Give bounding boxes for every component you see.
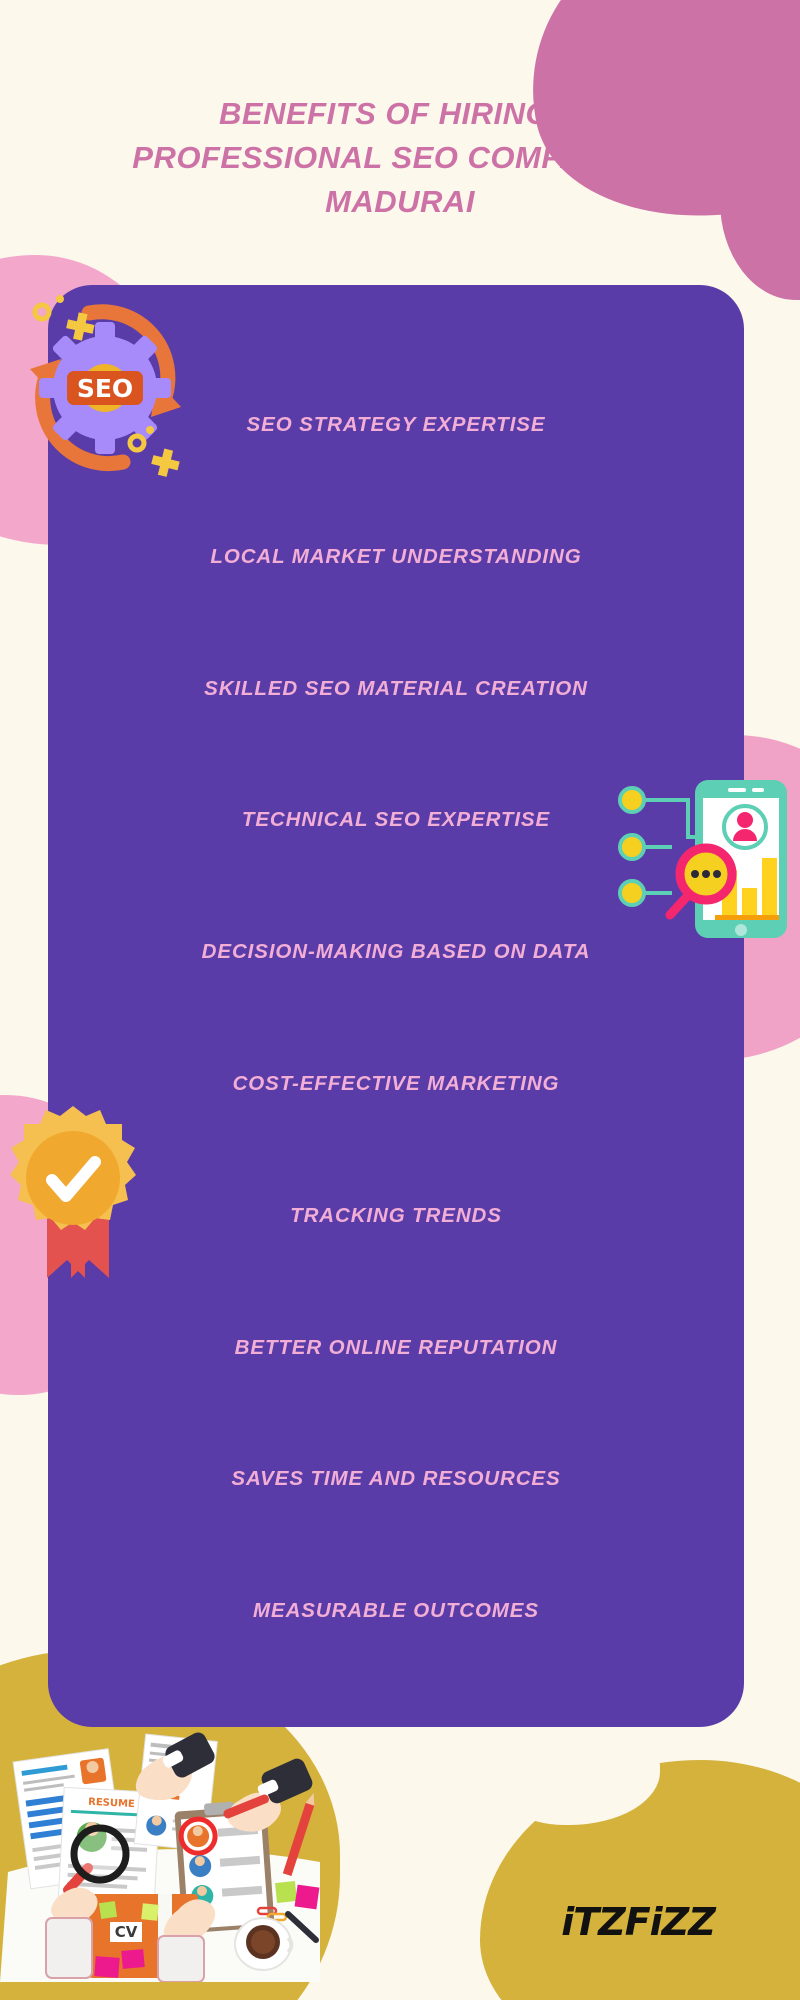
quality-badge-icon <box>5 1100 150 1280</box>
list-item: Tracking Trends <box>104 1150 688 1282</box>
seo-gear-icon: SEO <box>5 285 205 490</box>
list-item: Better Online Reputation <box>104 1282 688 1414</box>
decor-blob-top-right-secondary <box>720 120 800 300</box>
decor-blob-bottom-right-notch <box>490 1715 660 1825</box>
brand-logo-text: iTZFiZZ <box>561 1900 715 1944</box>
brand-logo: iTZFiZZ <box>538 1892 738 1952</box>
list-item: Local Market Understanding <box>104 491 688 623</box>
list-item: Measurable Outcomes <box>104 1545 688 1677</box>
list-item: Saves Time and Resources <box>104 1413 688 1545</box>
benefits-list: SEO Strategy Expertise Local Market Unde… <box>48 285 744 1727</box>
mobile-analytics-icon <box>610 775 790 940</box>
svg-text:SEO: SEO <box>77 374 133 403</box>
decor-blob-bottom-right-gold <box>480 1760 800 2000</box>
list-item: Skilled SEO Material Creation <box>104 623 688 755</box>
page-title: Benefits of Hiring a Professional SEO Co… <box>110 92 690 224</box>
list-item: Decision-Making Based on Data <box>104 886 688 1018</box>
infographic-poster: Benefits of Hiring a Professional SEO Co… <box>0 0 800 2000</box>
svg-text:CV: CV <box>115 1923 138 1941</box>
list-item: Technical SEO Expertise <box>104 754 688 886</box>
recruitment-desk-illustration: RESUME <box>0 1682 320 1982</box>
list-item: Cost-Effective Marketing <box>104 1018 688 1150</box>
